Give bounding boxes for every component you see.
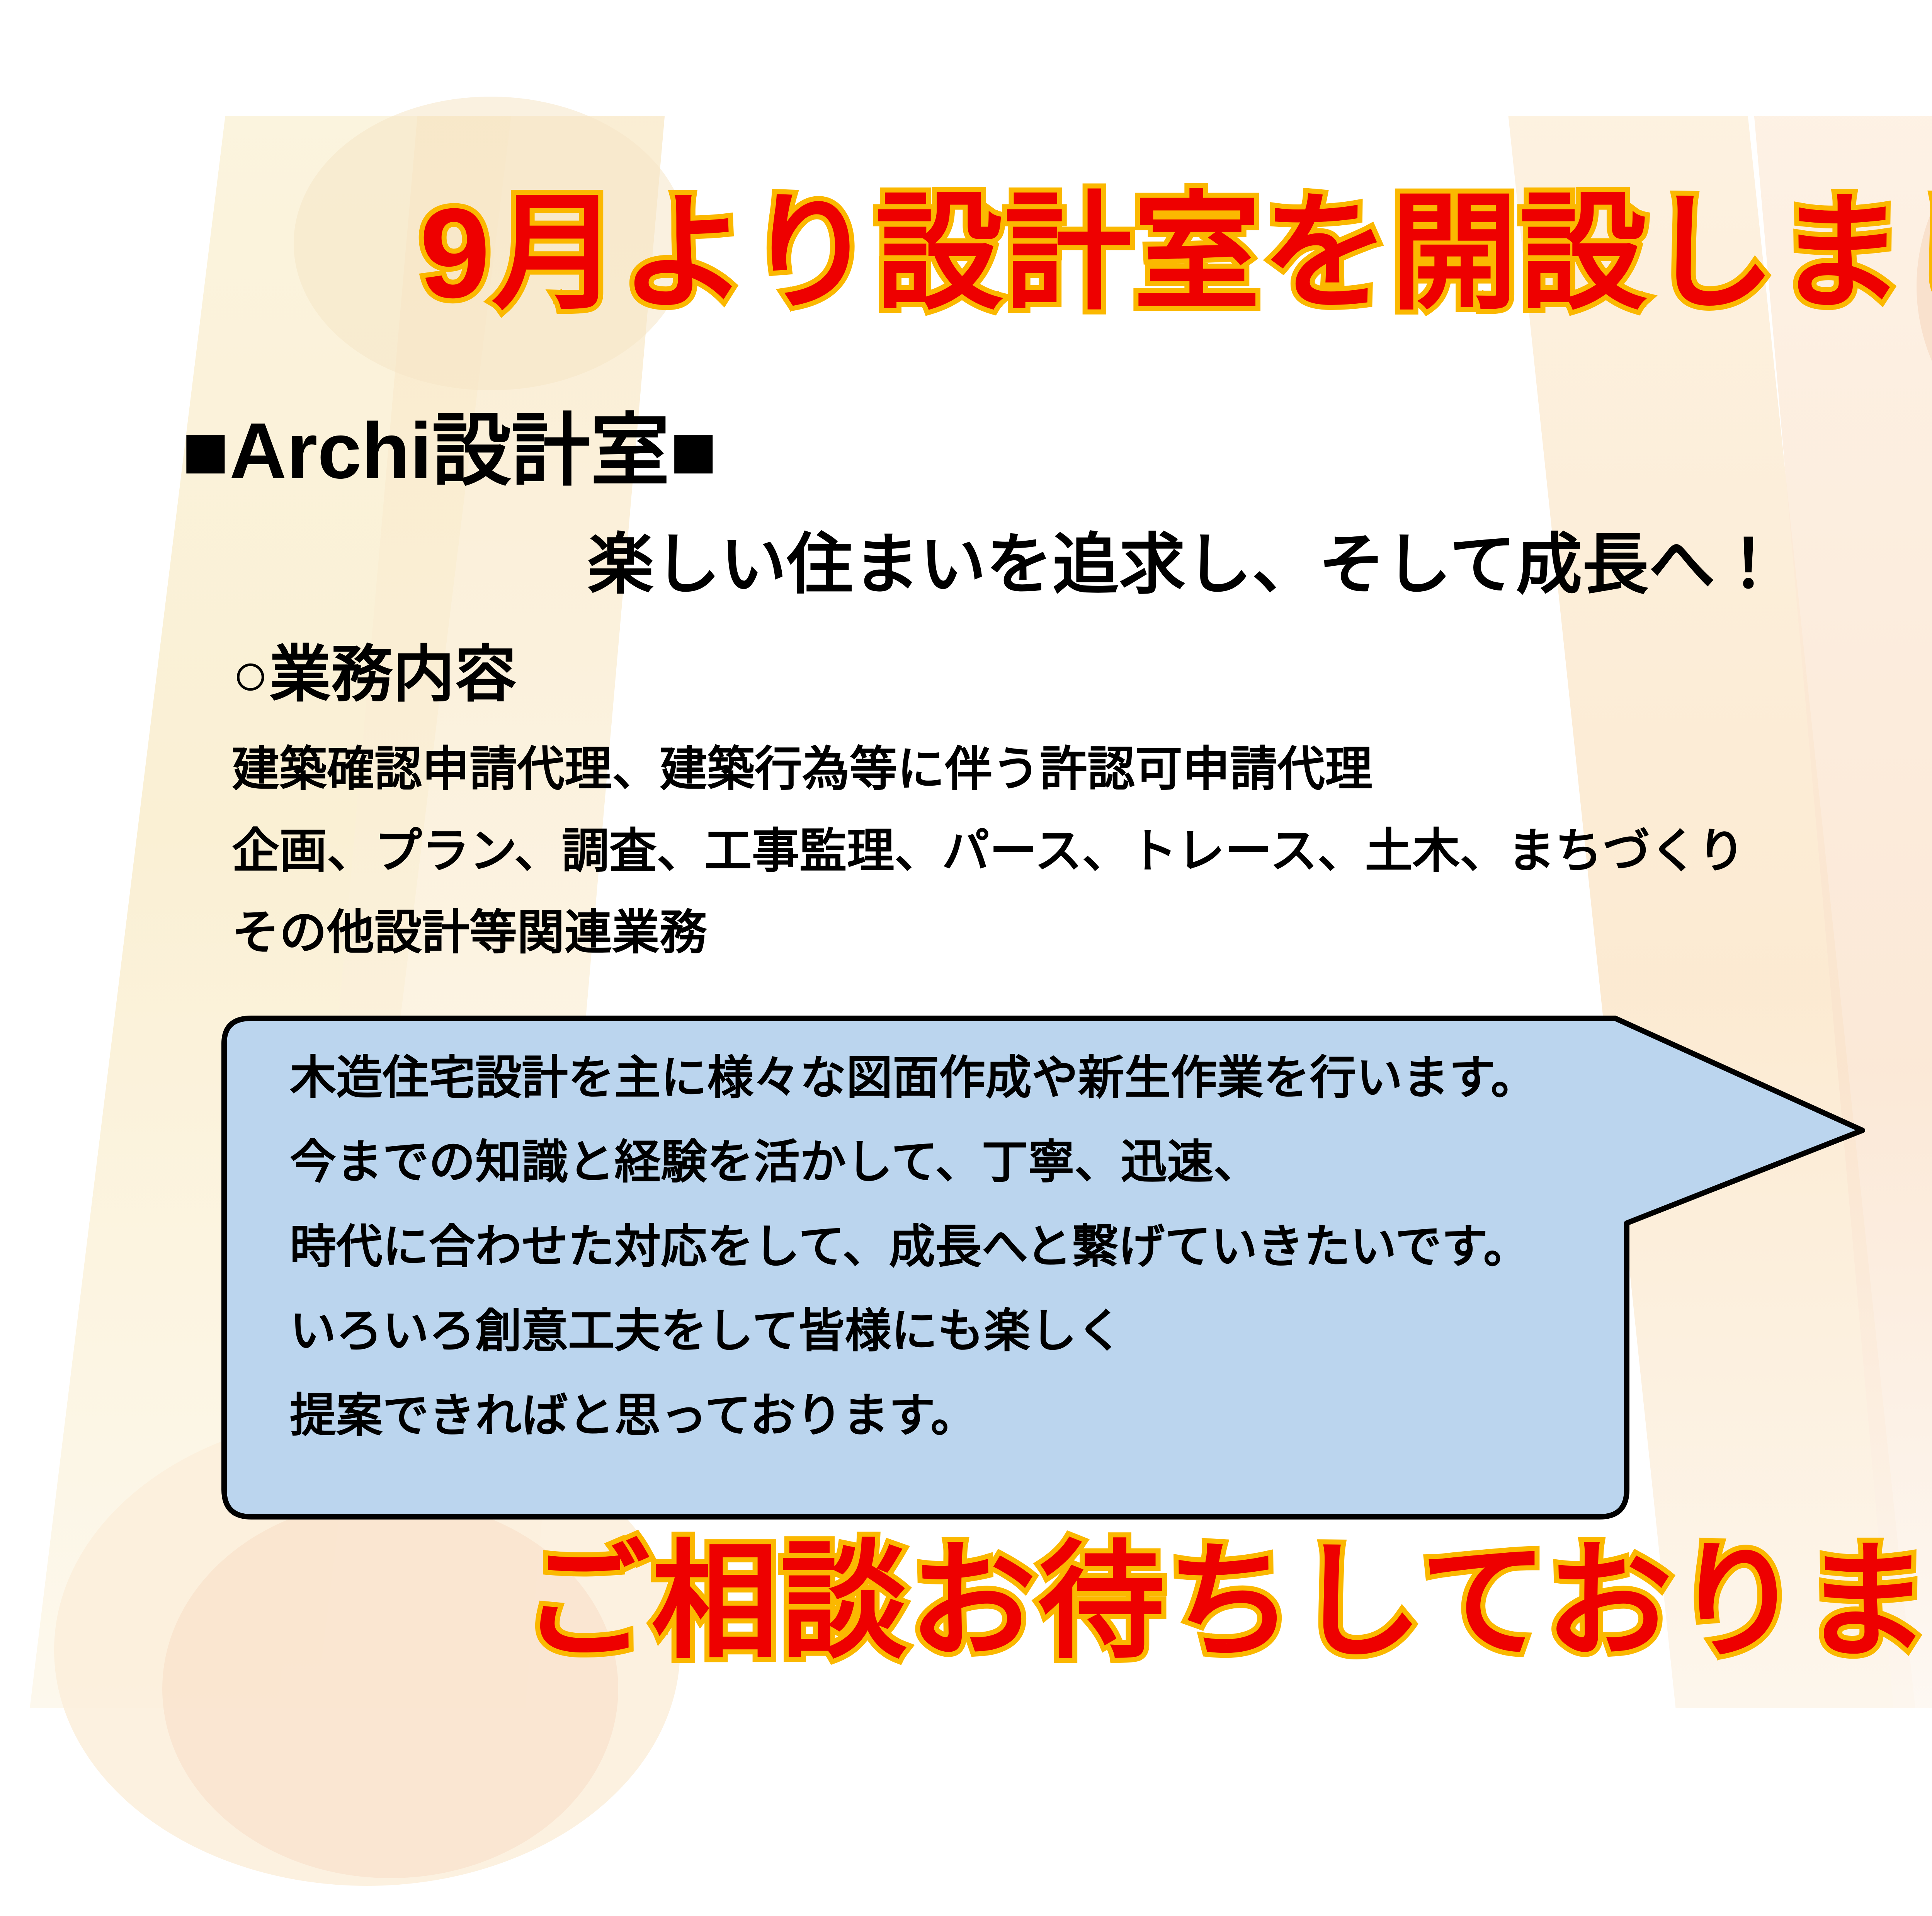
tagline: 楽しい住まいを追求し、そして成長へ！ xyxy=(587,510,1782,607)
bubble-line: 提案できればと思っております。 xyxy=(290,1373,1797,1458)
bubble-line: 木造住宅設計を主に様々な図面作成や新生作業を行います。 xyxy=(290,1036,1797,1120)
bubble-line: いろいろ創意工夫をして皆様にも楽しく xyxy=(290,1289,1797,1373)
headline-top: 9月より設計室を開設しました！ xyxy=(0,182,1932,325)
speech-bubble: 木造住宅設計を主に様々な図面作成や新生作業を行います。 今までの知識と経験を活か… xyxy=(201,1007,1886,1530)
services-heading: ○業務内容 xyxy=(232,624,517,714)
headline-bottom: ご相談お待ちしております！ xyxy=(0,1530,1932,1673)
brand-name: ■Archi設計室■ xyxy=(182,386,718,501)
character-illustration xyxy=(1924,541,1932,1476)
poster-canvas: 9月より設計室を開設しました！ ■Archi設計室■ 楽しい住まいを追求し、そし… xyxy=(0,0,1932,1916)
bubble-line: 今までの知識と経験を活かして、丁寧、迅速、 xyxy=(290,1120,1797,1204)
bubble-line: 時代に合わせた対応をして、成長へと繋げていきたいです。 xyxy=(290,1205,1797,1289)
service-item: 建築確認申請代理、建築行為等に伴う許認可申請代理 xyxy=(232,728,1745,810)
services-list: 建築確認申請代理、建築行為等に伴う許認可申請代理 企画、プラン、調査、工事監理、… xyxy=(232,728,1745,974)
service-item: 企画、プラン、調査、工事監理、パース、トレース、土木、まちづくり xyxy=(232,810,1745,892)
speech-bubble-text: 木造住宅設計を主に様々な図面作成や新生作業を行います。 今までの知識と経験を活か… xyxy=(290,1036,1797,1458)
service-item: その他設計等関連業務 xyxy=(232,892,1745,974)
